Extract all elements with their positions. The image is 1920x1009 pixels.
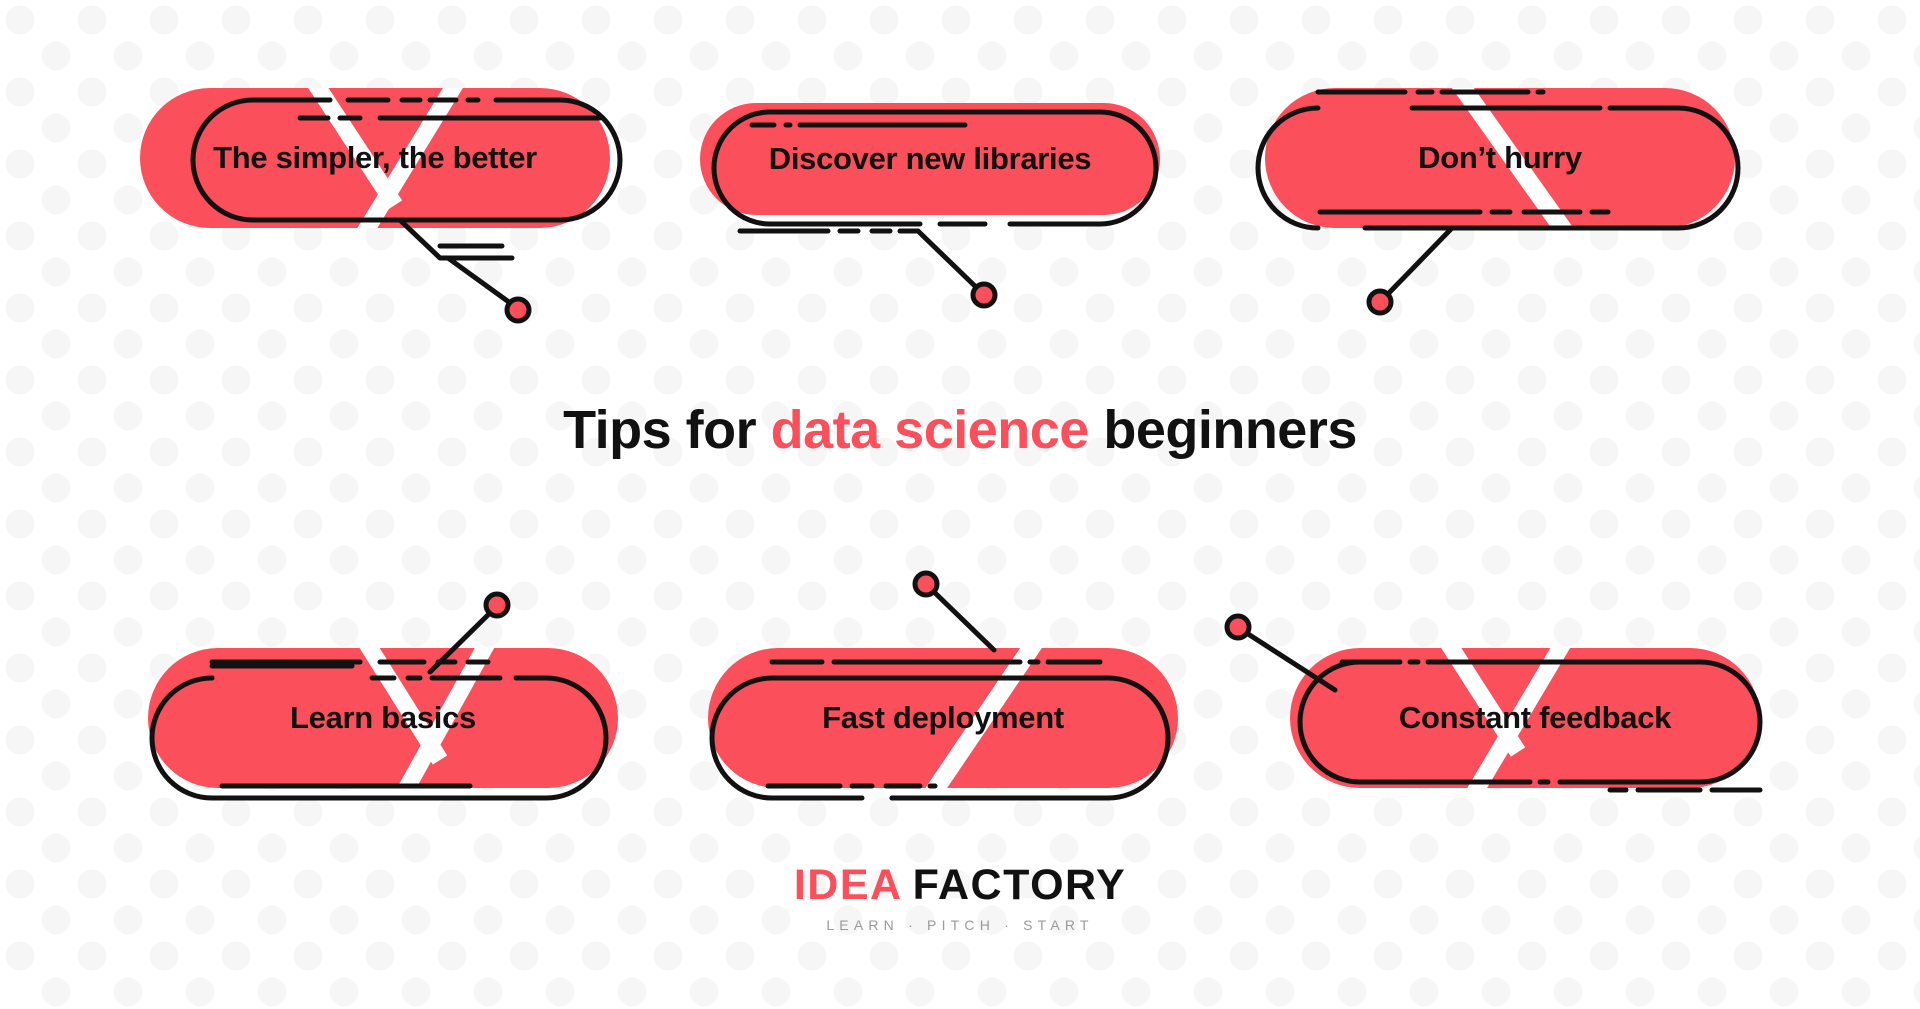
card-3-tail (1386, 228, 1452, 296)
title-part-after: beginners (1089, 400, 1357, 460)
card-2-red-pill (700, 103, 1160, 215)
logo-word-factory: FACTORY (913, 861, 1127, 909)
card-5-endpoint-dot (915, 573, 937, 595)
card-1-tail (400, 220, 513, 305)
card-5-tail (932, 590, 994, 650)
card-6-endpoint-dot (1227, 616, 1249, 638)
page-title: Tips for data science beginners (0, 398, 1920, 462)
logo-wordmark: IDEAFACTORY (0, 862, 1920, 908)
logo-word-idea: IDEA (794, 861, 903, 909)
card-1-endpoint-dot (507, 299, 529, 321)
card-1-graphic (140, 60, 620, 321)
card-2-endpoint-dot (973, 284, 995, 306)
card-3-graphic (1258, 60, 1738, 313)
title-part-before: Tips for (563, 400, 771, 460)
title-highlight: data science (771, 400, 1089, 460)
pill-artwork (0, 0, 1920, 1009)
card-6-graphic (1227, 616, 1760, 800)
card-4-endpoint-dot (486, 594, 508, 616)
infographic-canvas: The simpler, the better Discover new lib… (0, 0, 1920, 1009)
card-2-graphic (700, 103, 1160, 306)
card-3-endpoint-dot (1369, 291, 1391, 313)
brand-logo: IDEAFACTORY LEARN · PITCH · START (0, 862, 1920, 933)
logo-tagline: LEARN · PITCH · START (0, 917, 1920, 933)
card-5-graphic (708, 573, 1178, 812)
card-2-tail (918, 231, 978, 289)
card-4-graphic (148, 594, 618, 800)
